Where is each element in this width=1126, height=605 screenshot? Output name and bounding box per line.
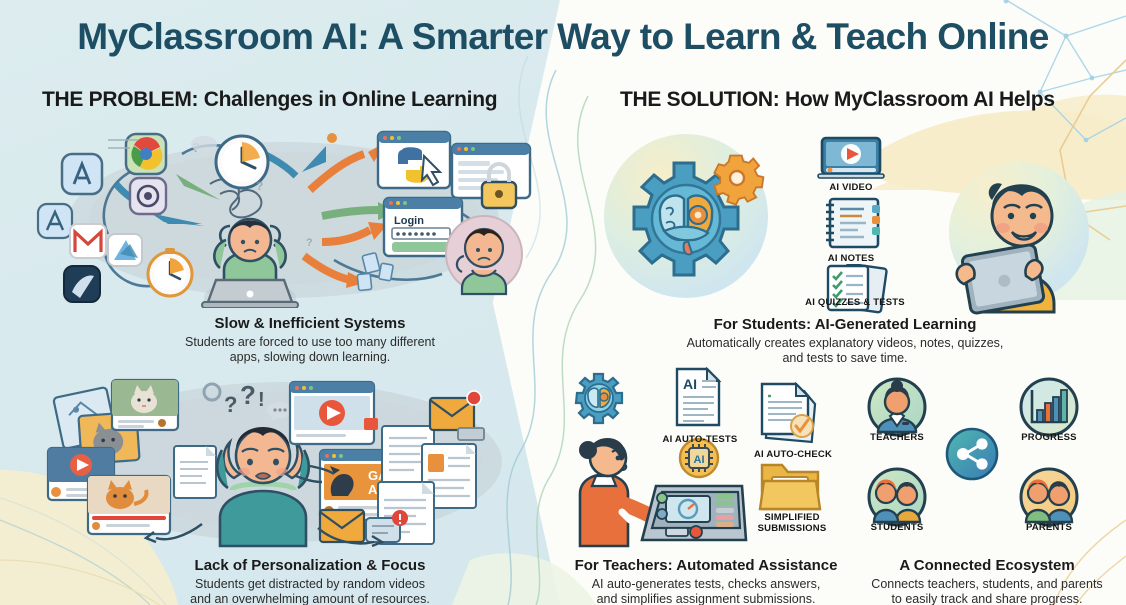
login-window-label: Login (394, 215, 424, 227)
svg-text:!: ! (258, 389, 265, 411)
svg-text:?: ? (306, 237, 313, 249)
caption-line-1: Automatically creates explanatory videos… (640, 336, 1050, 351)
caption-line-2: and tests to save time. (640, 351, 1050, 366)
svg-text:?: ? (224, 392, 237, 417)
caption-title: A Connected Ecosystem (848, 556, 1126, 575)
icon-label-ai-auto-tests: AI AUTO-TESTS (650, 434, 750, 445)
illustration-lack-of-personalization: ? ? ! (34, 370, 534, 550)
icon-label-students: STUDENTS (852, 522, 942, 533)
solution-heading: THE SOLUTION: How MyClassroom AI Helps (620, 88, 1055, 112)
problem-heading: THE PROBLEM: Challenges in Online Learni… (42, 88, 497, 112)
icon-label-ai-auto-check: AI AUTO-CHECK (740, 449, 846, 460)
caption-title: Lack of Personalization & Focus (80, 556, 540, 575)
icon-ai-auto-check (758, 382, 824, 444)
icon-progress-chart (1018, 376, 1080, 438)
browser-window-python (378, 132, 450, 188)
icon-label-ai-video: AI VIDEO (806, 182, 896, 193)
icon-teachers-avatar (866, 376, 928, 438)
icon-brain-gear-small (572, 372, 626, 426)
icon-parents-avatar (1018, 466, 1080, 528)
caption-slow-inefficient-systems: Slow & Inefficient Systems Students are … (80, 314, 540, 365)
caption-line-2: and simplifies assignment submissions. (556, 592, 856, 605)
caption-title: For Students: AI-Generated Learning (640, 315, 1050, 334)
caption-for-teachers: For Teachers: Automated Assistance AI au… (556, 556, 856, 605)
caption-title: Slow & Inefficient Systems (80, 314, 540, 333)
icon-label-ai-notes: AI NOTES (806, 253, 896, 264)
caption-lack-of-personalization: Lack of Personalization & Focus Students… (80, 556, 540, 605)
caption-title: For Teachers: Automated Assistance (556, 556, 856, 575)
icon-ai-video (816, 136, 886, 180)
caption-line-2: and an overwhelming amount of resources. (80, 592, 540, 605)
icon-label-ai-quizzes-tests: AI QUIZZES & TESTS (790, 297, 920, 308)
icon-label-simplified-submissions: SIMPLIFIED SUBMISSIONS (734, 512, 850, 534)
illustration-slow-inefficient-systems: Login (34, 128, 534, 308)
icon-share-network (944, 426, 1000, 482)
infographic-canvas: MyClassroom AI: A Smarter Way to Learn &… (0, 0, 1126, 605)
icon-ai-notes (818, 196, 888, 252)
icon-ai-brain-gear (596, 126, 776, 306)
icon-teacher-console (570, 428, 750, 550)
caption-line-2: to easily track and share progress. (848, 592, 1126, 605)
icon-label-teachers: TEACHERS (852, 432, 942, 443)
caption-connected-ecosystem: A Connected Ecosystem Connects teachers,… (848, 556, 1126, 605)
caption-line-2: apps, slowing down learning. (80, 350, 540, 365)
icon-label-progress: PROGRESS (1002, 432, 1096, 443)
frustrated-student-avatar (446, 216, 522, 294)
ai-document-label: AI (683, 376, 697, 392)
icon-ai-auto-tests: AI (674, 367, 722, 429)
browser-window-secure (452, 144, 530, 208)
caption-line-1: Students are forced to use too many diff… (80, 335, 540, 350)
svg-text:?: ? (256, 179, 263, 193)
caption-line-1: AI auto-generates tests, checks answers, (556, 577, 856, 592)
icon-students-avatar (866, 466, 928, 528)
svg-text:?: ? (240, 380, 256, 410)
caption-for-students: For Students: AI-Generated Learning Auto… (640, 315, 1050, 366)
icon-label-parents: PARENTS (1002, 522, 1096, 533)
icon-simplified-submissions (758, 459, 824, 515)
page-title: MyClassroom AI: A Smarter Way to Learn &… (0, 16, 1126, 58)
caption-line-1: Connects teachers, students, and parents (848, 577, 1126, 592)
icon-student-with-tablet (936, 152, 1102, 318)
caption-line-1: Students get distracted by random videos (80, 577, 540, 592)
